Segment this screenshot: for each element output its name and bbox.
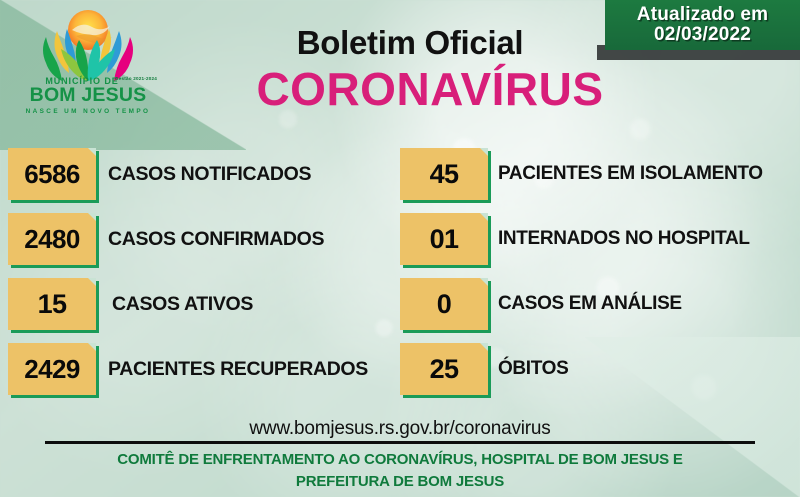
stat-label: CASOS CONFIRMADOS	[108, 213, 324, 265]
stat-value-box: 25	[400, 343, 488, 395]
stat-value: 0	[437, 289, 451, 320]
stat-value-box: 15	[8, 278, 96, 330]
municipality-logo: MUNICÍPIO DE BOM JESUS NASCE UM NOVO TEM…	[18, 4, 158, 122]
stat-label: CASOS ATIVOS	[112, 278, 253, 330]
footer-divider	[45, 441, 755, 444]
page-title: Boletim Oficial	[200, 24, 620, 62]
page-subtitle: CORONAVÍRUS	[200, 62, 660, 116]
stat-value-box: 6586	[8, 148, 96, 200]
stat-row-obitos: 25 ÓBITOS	[392, 343, 800, 395]
stat-value: 6586	[24, 159, 79, 190]
stat-row-casos-notificados: 6586 CASOS NOTIFICADOS	[0, 148, 390, 200]
stat-row-pacientes-recuperados: 2429 PACIENTES RECUPERADOS	[0, 343, 390, 395]
stat-value-box: 2480	[8, 213, 96, 265]
stat-row-casos-confirmados: 2480 CASOS CONFIRMADOS	[0, 213, 390, 265]
stat-value-box: 2429	[8, 343, 96, 395]
logo-line-slogan: NASCE UM NOVO TEMPO	[18, 108, 158, 115]
footer-website-url[interactable]: www.bomjesus.rs.gov.br/coronavirus	[0, 418, 800, 440]
stat-label: INTERNADOS NO HOSPITAL	[498, 213, 750, 265]
stat-label: PACIENTES RECUPERADOS	[108, 343, 368, 395]
stat-label: PACIENTES EM ISOLAMENTO	[498, 148, 763, 200]
stat-label: ÓBITOS	[498, 343, 568, 395]
coronavirus-bulletin-poster: Atualizado em 02/03/2022	[0, 0, 800, 497]
footer-credit: COMITÊ DE ENFRENTAMENTO AO CORONAVÍRUS, …	[0, 449, 800, 493]
update-date: 02/03/2022	[654, 25, 751, 45]
stat-value: 15	[38, 289, 67, 320]
footer-credit-line-2: PREFEITURA DE BOM JESUS	[0, 471, 800, 493]
stat-value: 45	[430, 159, 459, 190]
stat-value: 2429	[24, 354, 79, 385]
stat-value: 25	[430, 354, 459, 385]
stat-row-casos-ativos: 15 CASOS ATIVOS	[0, 278, 390, 330]
stat-label: CASOS NOTIFICADOS	[108, 148, 311, 200]
statistics-grid: 6586 CASOS NOTIFICADOS 2480 CASOS CONFIR…	[0, 145, 800, 403]
stat-label: CASOS EM ANÁLISE	[498, 278, 682, 330]
stat-row-internados-hospital: 01 INTERNADOS NO HOSPITAL	[392, 213, 800, 265]
update-label: Atualizado em	[637, 5, 768, 25]
update-banner: Atualizado em 02/03/2022	[605, 0, 800, 50]
stat-value: 2480	[24, 224, 79, 255]
footer-credit-line-1: COMITÊ DE ENFRENTAMENTO AO CORONAVÍRUS, …	[0, 449, 800, 471]
stat-value-box: 45	[400, 148, 488, 200]
stat-value: 01	[430, 224, 459, 255]
stat-value-box: 0	[400, 278, 488, 330]
logo-wordmark: MUNICÍPIO DE BOM JESUS NASCE UM NOVO TEM…	[18, 76, 158, 115]
stat-row-pacientes-isolamento: 45 PACIENTES EM ISOLAMENTO	[392, 148, 800, 200]
logo-gestao-text: Gestão 2021-2024	[115, 76, 157, 81]
hands-sun-logo-icon	[18, 4, 158, 82]
logo-line-bom-jesus: BOM JESUS	[18, 86, 158, 106]
stat-value-box: 01	[400, 213, 488, 265]
stat-row-casos-analise: 0 CASOS EM ANÁLISE	[392, 278, 800, 330]
